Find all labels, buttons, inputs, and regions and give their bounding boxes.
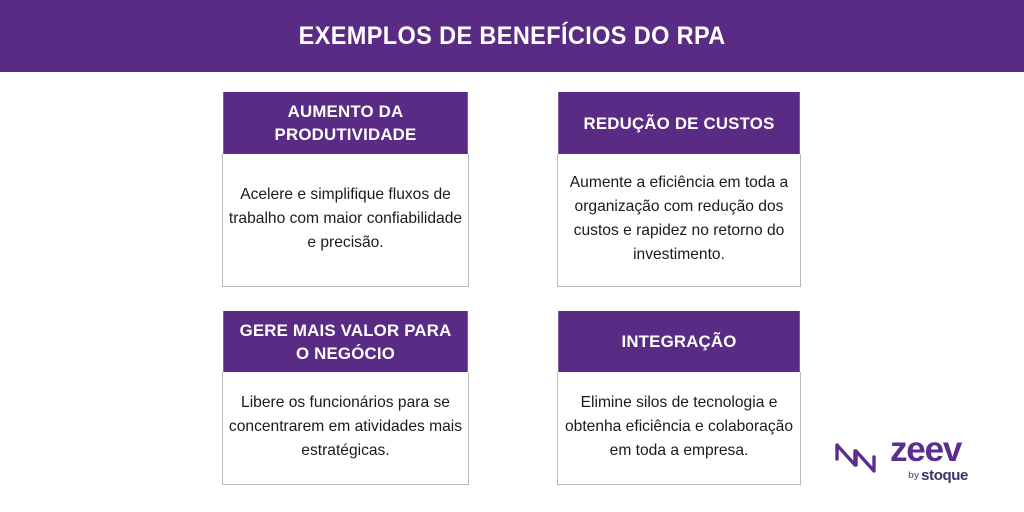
benefit-card-title: AUMENTO DA PRODUTIVIDADE <box>223 92 468 154</box>
benefit-card-gere-mais-valor-para-o-negocio: GERE MAIS VALOR PARA O NEGÓCIO Libere os… <box>222 311 469 485</box>
benefit-card-body: Aumente a eficiência em toda a organizaç… <box>557 154 801 287</box>
zeev-wordmark: zeev <box>890 431 961 469</box>
benefit-card-reducao-de-custos: REDUÇÃO DE CUSTOS Aumente a eficiência e… <box>557 92 801 287</box>
zeev-byline: bystoque <box>892 468 984 484</box>
zeev-logo: zeev bystoque <box>832 428 982 490</box>
benefit-card-aumento-da-produtividade: AUMENTO DA PRODUTIVIDADE Acelere e simpl… <box>222 92 469 287</box>
benefit-card-body-text: Aumente a eficiência em toda a organizaç… <box>563 171 795 267</box>
benefit-card-title: REDUÇÃO DE CUSTOS <box>558 92 800 154</box>
benefit-card-body: Acelere e simplifique fluxos de trabalho… <box>222 154 469 287</box>
page-header-banner: EXEMPLOS DE BENEFÍCIOS DO RPA <box>0 0 1024 72</box>
benefit-card-integracao: INTEGRAÇÃO Elimine silos de tecnologia e… <box>557 311 801 485</box>
page-title: EXEMPLOS DE BENEFÍCIOS DO RPA <box>298 22 725 51</box>
benefit-card-body: Elimine silos de tecnologia e obtenha ef… <box>557 372 801 485</box>
benefit-card-title: GERE MAIS VALOR PARA O NEGÓCIO <box>223 311 468 372</box>
benefit-card-body-text: Elimine silos de tecnologia e obtenha ef… <box>563 391 795 463</box>
benefit-card-title: INTEGRAÇÃO <box>558 311 800 372</box>
byline-parent-brand: stoque <box>921 467 968 484</box>
zeev-double-stroke-mark-icon <box>832 432 886 480</box>
benefit-card-body-text: Acelere e simplifique fluxos de trabalho… <box>228 183 463 255</box>
benefit-card-body-text: Libere os funcionários para se concentra… <box>228 391 463 463</box>
benefit-card-body: Libere os funcionários para se concentra… <box>222 372 469 485</box>
byline-by-label: by <box>908 470 919 481</box>
